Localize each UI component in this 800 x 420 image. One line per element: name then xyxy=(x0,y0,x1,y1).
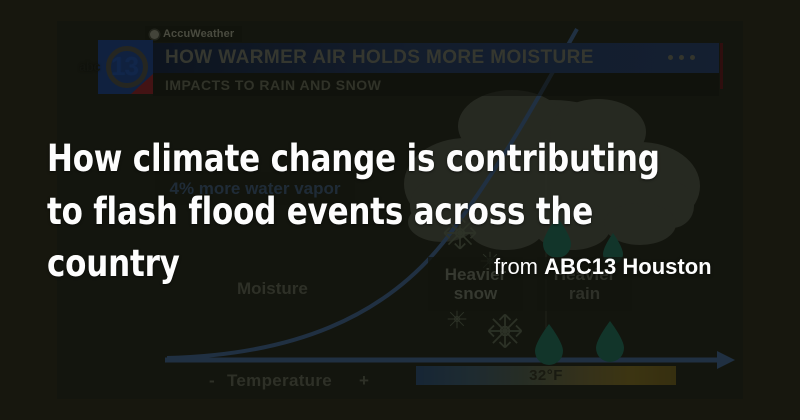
text-overlay: How climate change is contributing to fl… xyxy=(0,0,800,420)
attribution-source: ABC13 Houston xyxy=(544,254,711,279)
attribution-prefix: from xyxy=(494,254,544,279)
social-share-card: AccuWeather HOW WARMER AIR HOLDS MORE MO… xyxy=(0,0,800,420)
attribution: from ABC13 Houston xyxy=(494,254,712,280)
